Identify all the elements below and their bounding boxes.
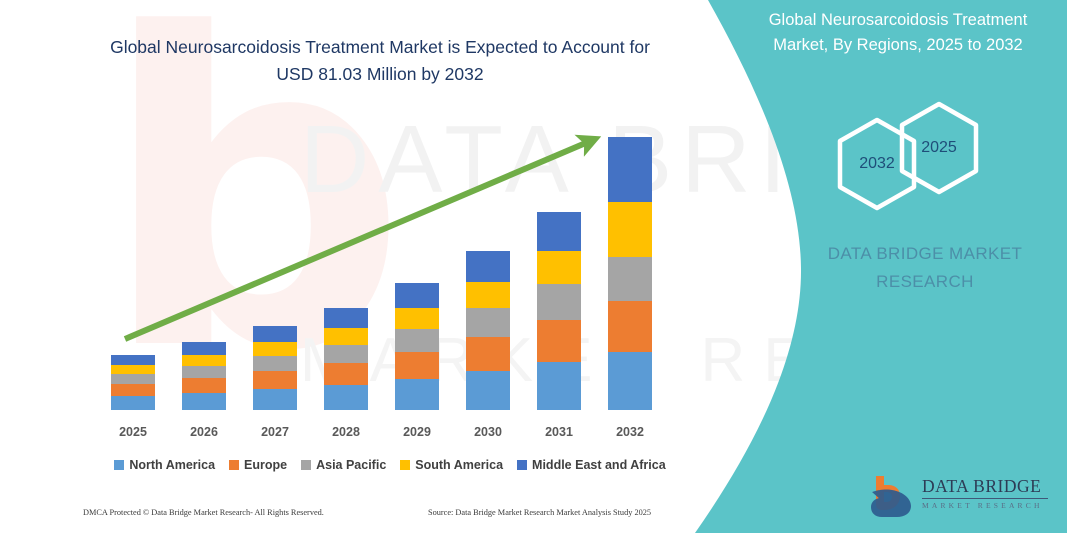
legend-swatch-icon bbox=[229, 460, 239, 470]
x-axis-label-2028: 2028 bbox=[316, 425, 376, 439]
data-bridge-logo: DATA BRIDGE MARKET RESEARCH bbox=[868, 472, 1048, 520]
hexagon-start-year-label: 2025 bbox=[921, 139, 957, 157]
legend-item[interactable]: North America bbox=[114, 458, 215, 472]
legend-label: Europe bbox=[244, 458, 287, 472]
x-axis-label-2029: 2029 bbox=[387, 425, 447, 439]
infographic-canvas: b DATA BRIDGE MARKET RESEARCH Global Neu… bbox=[0, 0, 1067, 533]
x-axis-label-2030: 2030 bbox=[458, 425, 518, 439]
year-hexagon-group: 2032 2025 bbox=[820, 100, 1020, 212]
legend-swatch-icon bbox=[517, 460, 527, 470]
x-axis-label-2032: 2032 bbox=[600, 425, 660, 439]
footer-copyright: DMCA Protected © Data Bridge Market Rese… bbox=[83, 508, 324, 517]
x-axis-label-2026: 2026 bbox=[174, 425, 234, 439]
legend-item[interactable]: Middle East and Africa bbox=[517, 458, 666, 472]
legend-label: Asia Pacific bbox=[316, 458, 386, 472]
legend-item[interactable]: South America bbox=[400, 458, 503, 472]
hexagon-end-year-label: 2032 bbox=[859, 155, 895, 173]
legend-label: North America bbox=[129, 458, 215, 472]
legend-swatch-icon bbox=[301, 460, 311, 470]
x-axis-labels: 20252026202720282029203020312032 bbox=[95, 425, 675, 445]
x-axis-label-2027: 2027 bbox=[245, 425, 305, 439]
legend-item[interactable]: Europe bbox=[229, 458, 287, 472]
logo-line-2: MARKET RESEARCH bbox=[922, 501, 1048, 510]
logo-mark-icon bbox=[868, 474, 914, 518]
legend-label: Middle East and Africa bbox=[532, 458, 666, 472]
chart-legend: North AmericaEuropeAsia PacificSouth Ame… bbox=[100, 455, 680, 475]
legend-swatch-icon bbox=[114, 460, 124, 470]
logo-wordmark: DATA BRIDGE MARKET RESEARCH bbox=[922, 476, 1048, 510]
legend-swatch-icon bbox=[400, 460, 410, 470]
legend-item[interactable]: Asia Pacific bbox=[301, 458, 386, 472]
logo-line-1: DATA BRIDGE bbox=[922, 476, 1048, 499]
panel-brand-text: DATA BRIDGE MARKET RESEARCH bbox=[800, 240, 1050, 296]
growth-trend-arrow bbox=[0, 0, 700, 533]
hexagon-badge-start-year: 2025 bbox=[896, 100, 982, 196]
x-axis-label-2031: 2031 bbox=[529, 425, 589, 439]
legend-label: South America bbox=[415, 458, 503, 472]
panel-title: Global Neurosarcoidosis Treatment Market… bbox=[742, 8, 1054, 58]
footer-source: Source: Data Bridge Market Research Mark… bbox=[428, 508, 651, 517]
x-axis-label-2025: 2025 bbox=[103, 425, 163, 439]
